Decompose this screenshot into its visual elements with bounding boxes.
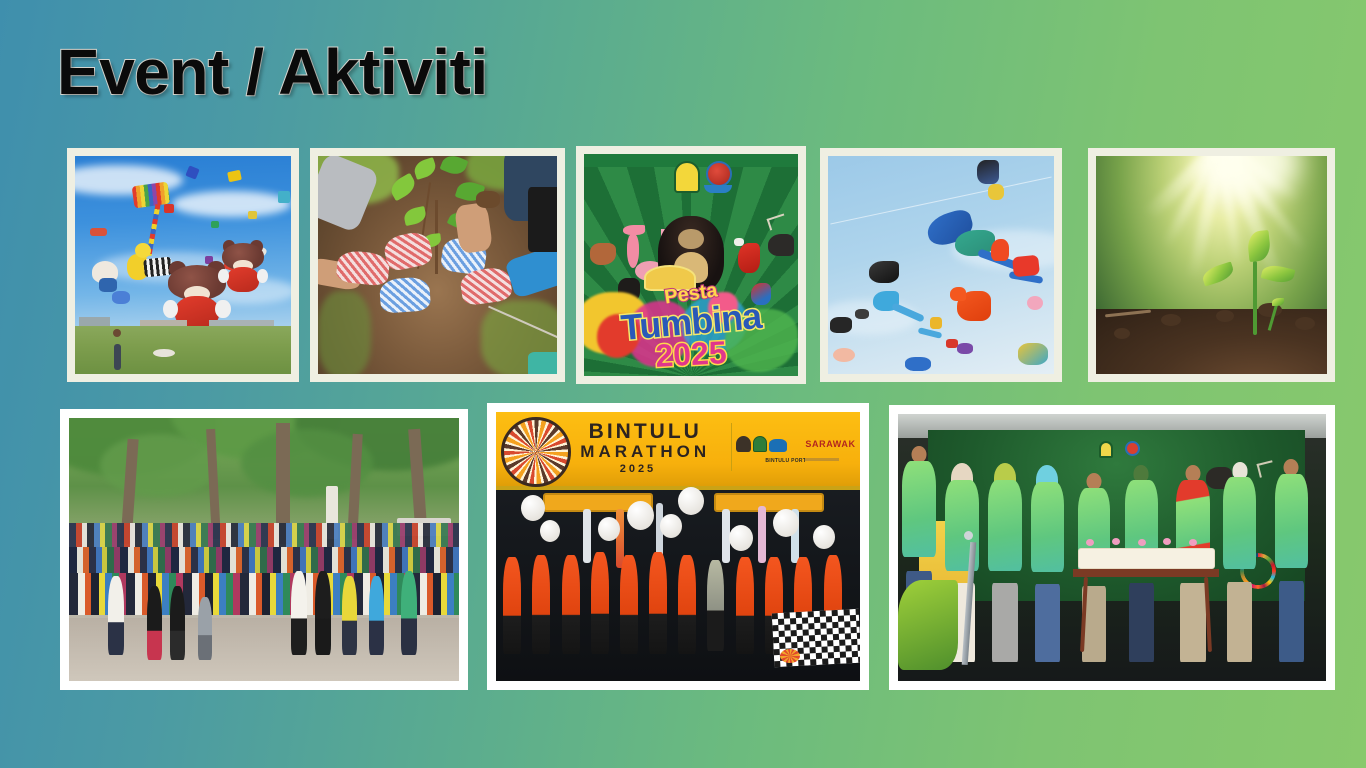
plant-leaves — [898, 580, 958, 671]
logo-wave — [704, 185, 732, 193]
tree-canopy — [100, 434, 217, 497]
person-child — [147, 586, 162, 660]
crocodile — [590, 243, 616, 265]
page-title: Event / Aktiviti — [57, 40, 488, 104]
green-polo-shirt — [1031, 482, 1064, 572]
sponsor-label-sarawak: SARAWAK — [805, 439, 855, 449]
flamingo-head — [623, 225, 645, 235]
kite — [855, 309, 869, 319]
kite — [946, 339, 958, 348]
event-logo-icon — [780, 649, 800, 663]
kite — [905, 357, 931, 371]
cloud — [172, 191, 291, 217]
dino-head — [950, 287, 966, 301]
person — [369, 576, 384, 655]
grass — [318, 291, 371, 374]
red-kite — [991, 239, 1009, 261]
person-child — [198, 597, 212, 660]
person — [108, 576, 124, 655]
council-logo-icon — [753, 436, 767, 452]
kite — [248, 211, 257, 219]
green-polo-shirt — [988, 480, 1022, 571]
bintulu-port-logo-icon — [769, 439, 787, 452]
red-kite — [1012, 255, 1040, 278]
sponsor-label-bintulu-port: BINTULU PORT — [765, 458, 806, 464]
person — [401, 571, 417, 655]
runner — [562, 555, 580, 655]
runner — [503, 557, 521, 654]
community-gathering-photo — [69, 418, 459, 681]
balloon — [627, 501, 654, 530]
sarawak-emblem-icon — [1099, 441, 1113, 458]
balloon — [729, 525, 753, 551]
ground-kite — [153, 349, 175, 357]
sponsor-underline — [805, 458, 839, 461]
kite — [1018, 343, 1048, 365]
macaw-beak — [734, 238, 744, 246]
table-top — [1073, 569, 1219, 577]
official — [988, 465, 1022, 663]
council-logo-icon — [1125, 441, 1140, 456]
kite — [164, 204, 174, 213]
runner — [620, 555, 638, 655]
divider — [731, 423, 732, 471]
kite — [957, 343, 973, 354]
kite — [90, 228, 107, 236]
sarawak-crest-icon — [736, 436, 751, 452]
chipmunk-arm — [215, 300, 230, 319]
kite-festival-photo — [75, 156, 291, 374]
kite — [930, 317, 942, 329]
gallery-item-cake-cutting[interactable] — [889, 405, 1335, 690]
trousers — [1227, 582, 1252, 662]
green-polo-shirt — [1275, 474, 1308, 567]
trousers — [1279, 581, 1304, 662]
arch-title-year: 2025 — [587, 463, 689, 475]
object — [528, 352, 557, 374]
person-official — [315, 571, 331, 655]
bintulu-marathon-photo: BINTULU MARATHON 2025 BINTULU PORT SARAW… — [496, 412, 860, 681]
arch-title-marathon: MARATHON — [562, 442, 729, 462]
trousers — [1180, 583, 1206, 662]
soil-clod — [1161, 314, 1181, 326]
gallery-item-tree-planting[interactable] — [310, 148, 565, 382]
chipmunk-arm — [218, 269, 229, 283]
deer — [768, 234, 794, 256]
kite — [278, 191, 290, 203]
official — [1275, 459, 1308, 662]
kite — [977, 160, 999, 184]
gardening-glove-blue — [379, 276, 431, 313]
runner — [736, 557, 754, 654]
official — [1223, 462, 1256, 662]
person-head — [113, 329, 121, 337]
green-polo-shirt — [1223, 477, 1256, 569]
feather-flag — [758, 506, 766, 562]
kite — [99, 278, 117, 292]
grass-field — [75, 326, 291, 374]
gallery-item-pesta-tumbina[interactable]: Pesta Tumbina 2025 — [576, 146, 806, 384]
runner — [678, 555, 696, 655]
gallery-item-seedling[interactable] — [1088, 148, 1335, 382]
runner — [591, 552, 609, 654]
trousers — [992, 583, 1018, 662]
balloon — [773, 509, 799, 537]
gallery-item-animal-kites[interactable] — [820, 148, 1062, 382]
runner — [532, 555, 550, 655]
soil-mound — [1096, 309, 1327, 374]
kite — [1027, 296, 1043, 310]
cake-cutting-ceremony-photo — [898, 414, 1326, 681]
runner — [707, 560, 724, 651]
pesta-tumbina-poster: Pesta Tumbina 2025 — [584, 154, 798, 376]
bear-muzzle — [678, 229, 703, 249]
animal-kites-photo — [828, 156, 1054, 374]
gallery-item-community-gathering[interactable] — [60, 409, 468, 690]
balloon — [813, 525, 835, 549]
shoe — [476, 191, 500, 208]
balloon — [660, 514, 682, 538]
person — [114, 344, 121, 370]
gallery-item-kite-festival[interactable] — [67, 148, 299, 382]
seedling-stem — [1253, 261, 1257, 335]
kite — [833, 348, 855, 362]
tree-planting-photo — [318, 156, 557, 374]
black-animal-kite — [869, 261, 899, 283]
scarlet-macaw — [738, 243, 760, 273]
flamingo — [627, 234, 639, 268]
runner — [649, 552, 667, 654]
seedling-photo — [1096, 156, 1327, 374]
ceremonial-cake — [1078, 548, 1215, 569]
trousers — [1129, 583, 1154, 662]
gallery-item-bintulu-marathon[interactable]: BINTULU MARATHON 2025 BINTULU PORT SARAW… — [487, 403, 869, 690]
soil-clod — [1216, 310, 1234, 322]
arch-title-bintulu: BINTULU — [562, 420, 729, 444]
balloon — [540, 520, 560, 542]
sarawak-emblem-icon — [674, 161, 700, 193]
person — [342, 576, 357, 655]
trousers — [1035, 584, 1060, 662]
bag — [528, 187, 557, 252]
council-logo-icon — [706, 161, 732, 187]
chipmunk-body — [227, 267, 259, 292]
kite — [988, 184, 1004, 200]
feather-flag — [583, 509, 591, 563]
green-polo-shirt — [902, 461, 936, 557]
kite — [112, 291, 130, 304]
kite — [830, 317, 852, 333]
chipmunk-kite — [222, 243, 264, 291]
hanging-banner — [714, 493, 823, 512]
person-official — [291, 571, 307, 655]
person-child — [170, 586, 185, 660]
official — [1031, 467, 1064, 662]
kite — [211, 221, 219, 228]
balloon — [598, 517, 620, 541]
